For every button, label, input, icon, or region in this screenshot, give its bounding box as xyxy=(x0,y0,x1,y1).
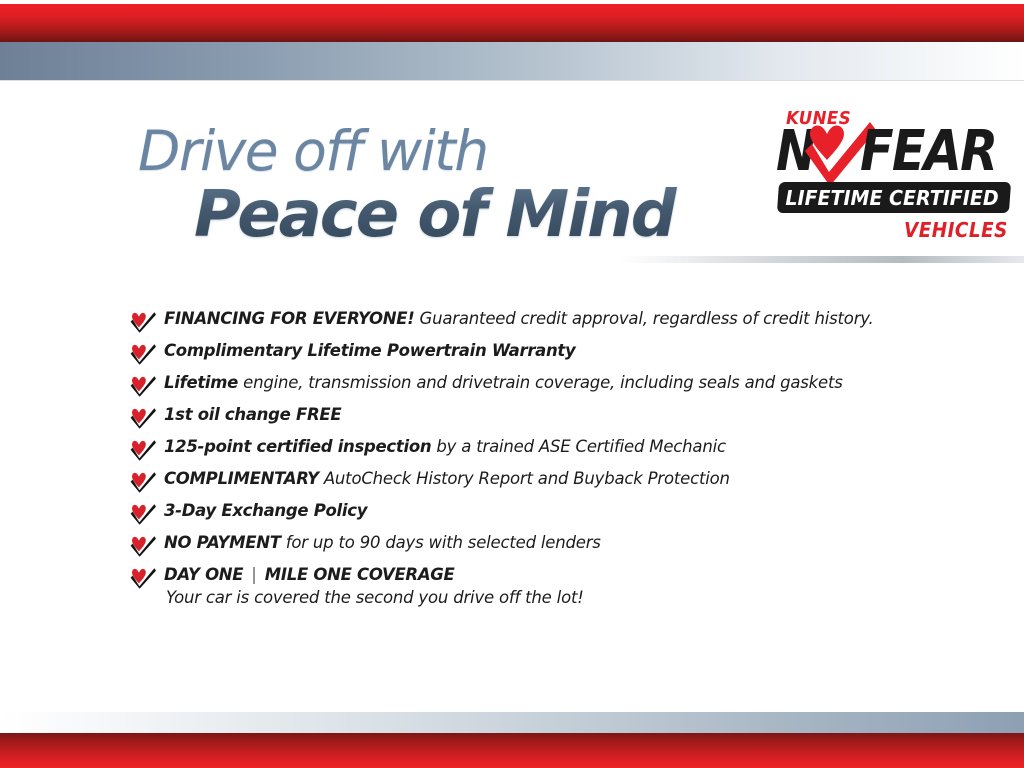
benefit-text: 1st oil change FREE xyxy=(164,404,930,426)
heart-check-bullet-icon xyxy=(130,375,156,397)
benefit-regular-text: Guaranteed credit approval, regardless o… xyxy=(415,309,874,328)
benefit-bold-text: Complimentary Lifetime Powertrain Warran… xyxy=(164,341,575,360)
bottom-red-band xyxy=(0,733,1024,768)
benefit-bold-text: 1st oil change FREE xyxy=(164,405,341,424)
benefit-text: Lifetime engine, transmission and drivet… xyxy=(164,372,930,394)
benefit-item: 1st oil change FREE xyxy=(130,404,930,436)
benefits-list: FINANCING FOR EVERYONE! Guaranteed credi… xyxy=(130,308,930,618)
heart-check-bullet-icon xyxy=(130,471,156,493)
benefit-bold-text: COMPLIMENTARY xyxy=(164,469,319,488)
benefit-bold-text: 125-point certified inspection xyxy=(164,437,431,456)
logo-word-fear: FEAR xyxy=(860,124,996,180)
benefit-item: 125-point certified inspection by a trai… xyxy=(130,436,930,468)
benefit-text: 125-point certified inspection by a trai… xyxy=(164,436,930,458)
benefit-bold-text-2: MILE ONE COVERAGE xyxy=(265,565,455,584)
benefit-item: COMPLIMENTARY AutoCheck History Report a… xyxy=(130,468,930,500)
benefit-subtext: Your car is covered the second you drive… xyxy=(164,586,930,610)
benefit-text: DAY ONE | MILE ONE COVERAGE xyxy=(164,564,930,586)
benefit-regular-text: engine, transmission and drivetrain cove… xyxy=(238,373,843,392)
logo-wordmark: N FEAR xyxy=(776,126,1012,184)
benefit-item: 3-Day Exchange Policy xyxy=(130,500,930,532)
kunes-no-fear-logo: KUNES N FEAR LIFETIME CERTIFIED VEHICLES xyxy=(772,108,1012,248)
benefit-text: FINANCING FOR EVERYONE! Guaranteed credi… xyxy=(164,308,930,330)
advertisement-root: Drive off with Peace of Mind KUNES N FEA… xyxy=(0,0,1024,768)
benefit-regular-text: AutoCheck History Report and Buyback Pro… xyxy=(319,469,730,488)
benefit-item: Complimentary Lifetime Powertrain Warran… xyxy=(130,340,930,372)
benefit-text: COMPLIMENTARY AutoCheck History Report a… xyxy=(164,468,930,490)
headline-line-1: Drive off with xyxy=(138,122,758,180)
benefit-text: Complimentary Lifetime Powertrain Warran… xyxy=(164,340,930,362)
benefit-text: NO PAYMENT for up to 90 days with select… xyxy=(164,532,930,554)
benefit-text: 3-Day Exchange Policy xyxy=(164,500,930,522)
heart-check-bullet-icon xyxy=(130,343,156,365)
heart-check-bullet-icon xyxy=(130,407,156,429)
benefit-bold-text: DAY ONE xyxy=(164,565,243,584)
heart-check-bullet-icon xyxy=(130,503,156,525)
header-divider xyxy=(620,256,1024,263)
benefit-bold-text: Lifetime xyxy=(164,373,238,392)
benefit-bold-text: FINANCING FOR EVERYONE! xyxy=(164,309,415,328)
heart-check-bullet-icon xyxy=(130,311,156,333)
benefit-bold-text: NO PAYMENT xyxy=(164,533,281,552)
top-gray-band xyxy=(0,42,1024,81)
headline-block: Drive off with Peace of Mind xyxy=(138,122,758,248)
benefit-bold-text: 3-Day Exchange Policy xyxy=(164,501,367,520)
headline-line-2: Peace of Mind xyxy=(194,182,758,248)
heart-check-bullet-icon xyxy=(130,567,156,589)
benefit-regular-text: for up to 90 days with selected lenders xyxy=(281,533,601,552)
benefit-item: Lifetime engine, transmission and drivet… xyxy=(130,372,930,404)
heart-check-bullet-icon xyxy=(130,535,156,557)
logo-certified-text: LIFETIME CERTIFIED xyxy=(778,186,1006,210)
benefit-separator: | xyxy=(243,565,265,584)
benefit-item: DAY ONE | MILE ONE COVERAGEYour car is c… xyxy=(130,564,930,618)
benefit-regular-text: by a trained ASE Certified Mechanic xyxy=(431,437,726,456)
benefit-item: FINANCING FOR EVERYONE! Guaranteed credi… xyxy=(130,308,930,340)
benefit-item: NO PAYMENT for up to 90 days with select… xyxy=(130,532,930,564)
logo-vehicles-text: VEHICLES xyxy=(904,218,1008,242)
heart-check-bullet-icon xyxy=(130,439,156,461)
top-red-band xyxy=(0,4,1024,42)
